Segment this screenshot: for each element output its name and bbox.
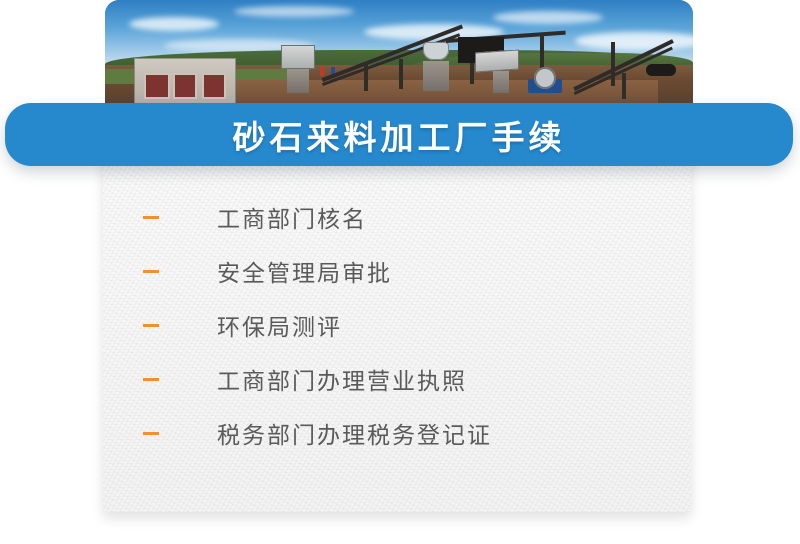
stockpile-shadow (646, 64, 676, 76)
dash-bullet-icon (143, 270, 159, 273)
list-item: 工商部门核名 (143, 190, 671, 244)
photo-scene (105, 0, 693, 108)
list-item: 安全管理局审批 (143, 244, 671, 298)
window-opening (173, 73, 197, 99)
list-item-label: 环保局测评 (217, 308, 342, 342)
dash-bullet-icon (143, 324, 159, 327)
bucket-wheel (534, 67, 556, 89)
list-item-label: 税务部门办理税务登记证 (217, 416, 492, 450)
crusher-pier (423, 61, 449, 91)
support-post (622, 73, 626, 99)
concrete-building (134, 58, 236, 104)
header-photo (105, 0, 693, 108)
list-item: 环保局测评 (143, 298, 671, 352)
worker-figure (320, 66, 324, 76)
dash-bullet-icon (143, 432, 159, 435)
cone-crusher-hopper (423, 42, 449, 60)
list-item-label: 工商部门办理营业执照 (217, 362, 467, 396)
infographic-poster: 工商部门核名 安全管理局审批 环保局测评 工商部门办理营业执照 税务部门办理税务… (0, 0, 800, 544)
page-title: 砂石来料加工厂手续 (233, 111, 566, 159)
title-banner: 砂石来料加工厂手续 (5, 103, 793, 166)
window-opening (202, 73, 226, 99)
crusher-housing (281, 45, 315, 69)
support-post (399, 59, 403, 89)
list-item: 工商部门办理营业执照 (143, 352, 671, 406)
support-pier (287, 69, 309, 93)
list-item: 税务部门办理税务登记证 (143, 406, 671, 460)
dash-bullet-icon (143, 216, 159, 219)
support-post (364, 63, 368, 91)
window-opening (144, 73, 170, 99)
dash-bullet-icon (143, 378, 159, 381)
cloud-shape (493, 11, 603, 24)
screen-pier (493, 71, 509, 93)
procedure-list: 工商部门核名 安全管理局审批 环保局测评 工商部门办理营业执照 税务部门办理税务… (143, 190, 671, 460)
gantry-post (611, 42, 615, 86)
list-item-label: 安全管理局审批 (217, 254, 392, 288)
screen-panel (475, 50, 519, 73)
list-item-label: 工商部门核名 (217, 200, 367, 234)
content-card: 工商部门核名 安全管理局审批 环保局测评 工商部门办理营业执照 税务部门办理税务… (103, 108, 691, 512)
